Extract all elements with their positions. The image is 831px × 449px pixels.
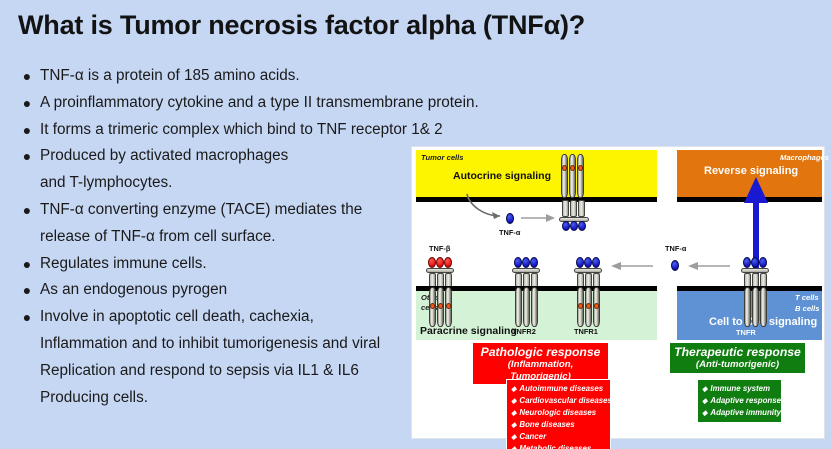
bullet-dot-icon: ●	[14, 251, 40, 278]
list-item: ● It forms a trimeric complex which bind…	[14, 117, 434, 144]
list-item-text: Produced by activated macrophages	[40, 143, 288, 170]
list-item-text: Regulates immune cells.	[40, 251, 207, 278]
membrane-tnf-receptor-autocrine-tail	[562, 200, 586, 230]
tumor-cell-membrane	[416, 197, 657, 202]
list-item: ● As an endogenous pyrogen	[14, 277, 434, 304]
list-item: ● A proinflammatory cytokine and a type …	[14, 90, 434, 117]
receptor-stalk-other-cells-1	[429, 287, 453, 333]
soluble-tnf-alpha-ligand-2	[671, 260, 679, 271]
page-title: What is Tumor necrosis factor alpha (TNF…	[18, 10, 818, 41]
receptor-stalk-tnfr2	[515, 287, 539, 333]
list-item-text: As an endogenous pyrogen	[40, 277, 227, 304]
tnf-signaling-diagram: Tumor cells Autocrine signaling TNF-α	[411, 146, 825, 439]
bullet-dot-icon: ●	[14, 304, 40, 331]
therapeutic-response-banner: Therapeutic response (Anti-tumorigenic)	[670, 343, 805, 373]
list-item: ◆Adaptive response	[702, 395, 775, 407]
pathologic-response-list: ◆Autoimmune diseases ◆Cardiovascular dis…	[506, 379, 611, 449]
list-item-continuation: ● release of TNF-α from cell surface.	[14, 224, 434, 251]
list-item-text: Replication and respond to sepsis via IL…	[40, 358, 359, 385]
list-item: ◆Bone diseases	[511, 419, 604, 431]
slide-canvas: What is Tumor necrosis factor alpha (TNF…	[0, 0, 831, 449]
therapeutic-response-subtitle: (Anti-tumorigenic)	[674, 359, 801, 370]
list-item: ● Involve in apoptotic cell death, cache…	[14, 304, 434, 331]
list-item: ● TNF-α converting enzyme (TACE) mediate…	[14, 197, 434, 224]
list-item-text: TNF-α converting enzyme (TACE) mediates …	[40, 197, 362, 224]
diamond-bullet-icon: ◆	[511, 386, 516, 393]
list-item-continuation: ● Inflammation and to inhibit tumorigene…	[14, 331, 434, 358]
list-item-continuation: ● Replication and respond to sepsis via …	[14, 358, 434, 385]
binding-arrow-icon	[520, 211, 558, 225]
list-item: ◆Adaptive immunity	[702, 407, 775, 419]
tumor-cells-label: Tumor cells	[421, 154, 464, 162]
cleavage-arrow-icon	[464, 192, 512, 222]
bullet-dot-icon: ●	[14, 143, 40, 170]
list-item: ◆Autoimmune diseases	[511, 383, 604, 395]
b-cells-label: B cells	[795, 305, 819, 313]
receptor-stalk-tnfr-t-cell	[744, 287, 768, 333]
list-item-text: Involve in apoptotic cell death, cachexi…	[40, 304, 314, 331]
list-item-continuation: ● Producing cells.	[14, 385, 434, 412]
therapeutic-response-title: Therapeutic response	[674, 345, 801, 359]
diamond-bullet-icon: ◆	[511, 398, 516, 405]
diamond-bullet-icon: ◆	[702, 410, 707, 417]
bullet-list: ● TNF-α is a protein of 185 amino acids.…	[14, 63, 434, 411]
diamond-bullet-icon: ◆	[702, 386, 707, 393]
t-cells-label: T cells	[795, 294, 819, 302]
list-item-text: It forms a trimeric complex which bind t…	[40, 117, 443, 144]
diamond-bullet-icon: ◆	[511, 410, 516, 417]
list-item: ◆Neurologic diseases	[511, 407, 604, 419]
bullet-dot-icon: ●	[14, 117, 40, 144]
list-item: ◆Immune system	[702, 383, 775, 395]
list-item-text: and T-lymphocytes.	[40, 170, 172, 197]
list-item: ● TNF-α is a protein of 185 amino acids.	[14, 63, 434, 90]
paracrine-arrow-icon	[608, 259, 654, 273]
list-item: ◆Metabolic diseases	[511, 443, 604, 449]
autocrine-signaling-label: Autocrine signaling	[453, 171, 551, 182]
list-item: ● Regulates immune cells.	[14, 251, 434, 278]
list-item-text: Inflammation and to inhibit tumorigenesi…	[40, 331, 380, 358]
bullet-dot-icon: ●	[14, 90, 40, 117]
list-item: ◆Cardiovascular diseases	[511, 395, 604, 407]
list-item-text: A proinflammatory cytokine and a type II…	[40, 90, 479, 117]
list-item-text: TNF-α is a protein of 185 amino acids.	[40, 63, 300, 90]
bullet-dot-icon: ●	[14, 197, 40, 224]
receptor-stalk-tnfr1	[577, 287, 601, 333]
release-arrow-icon	[685, 259, 731, 273]
pathologic-response-banner: Pathologic response (Inflammation, Tumor…	[473, 343, 608, 384]
pathologic-response-title: Pathologic response	[477, 345, 604, 359]
list-item-continuation: ● and T-lymphocytes.	[14, 170, 434, 197]
bullet-dot-icon: ●	[14, 63, 40, 90]
therapeutic-response-list: ◆Immune system ◆Adaptive response ◆Adapt…	[697, 379, 782, 423]
diamond-bullet-icon: ◆	[702, 398, 707, 405]
macrophages-label: Macrophages	[780, 154, 829, 162]
list-item-text: Producing cells.	[40, 385, 148, 412]
diamond-bullet-icon: ◆	[511, 422, 516, 429]
list-item: ◆Cancer	[511, 431, 604, 443]
diamond-bullet-icon: ◆	[511, 434, 516, 441]
tnf-alpha-label-right: TNF-α	[665, 245, 686, 252]
reverse-signaling-label: Reverse signaling	[704, 166, 798, 177]
tnf-alpha-label-left: TNF-α	[499, 229, 520, 236]
list-item: ● Produced by activated macrophages	[14, 143, 434, 170]
bullet-dot-icon: ●	[14, 277, 40, 304]
tnf-beta-label: TNF-β	[429, 245, 450, 252]
list-item-text: release of TNF-α from cell surface.	[40, 224, 276, 251]
